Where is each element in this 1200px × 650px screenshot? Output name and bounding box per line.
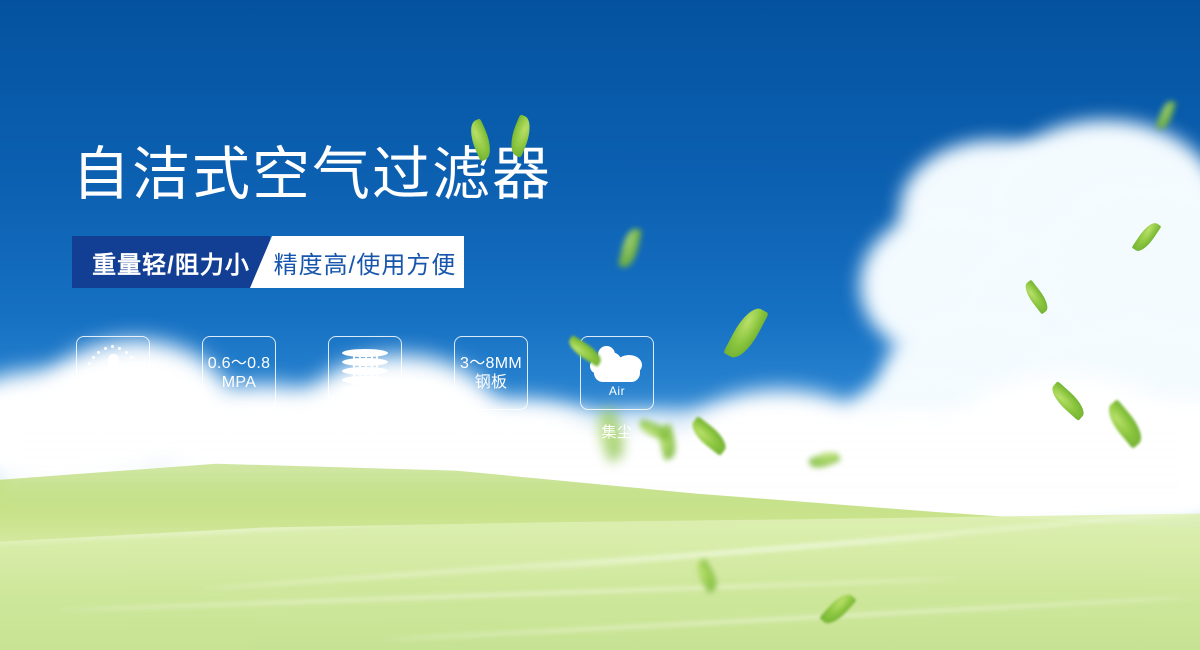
steel-thickness-text: 3～8MM bbox=[460, 354, 522, 373]
control-dial-icon: NO OFF bbox=[83, 345, 143, 401]
subtitle-right-text: 精度高/使用方便 bbox=[274, 245, 457, 280]
pressure-unit-text: MPA bbox=[222, 373, 256, 392]
feature-icon-box: NO OFF bbox=[76, 336, 150, 410]
feature-list: NO OFF bbox=[76, 336, 654, 442]
dial-off-label: OFF bbox=[130, 387, 143, 393]
pressure-value-text: 0.6～0.8 bbox=[208, 354, 271, 373]
feature-label: 钢结构强度 bbox=[452, 421, 530, 442]
steel-material-text: 钢板 bbox=[475, 373, 508, 392]
air-label: Air bbox=[609, 384, 625, 398]
leaf-sprout-icon bbox=[470, 112, 540, 166]
feature-label: 集尘 bbox=[601, 421, 632, 442]
feature-item-blowback[interactable]: 强力反吹 bbox=[328, 336, 402, 442]
feature-icon-box: 3～8MM 钢板 bbox=[454, 336, 528, 410]
subtitle-left-text: 重量轻/阻力小 bbox=[92, 245, 250, 280]
feature-item-pressure[interactable]: 0.6～0.8 MPA 二级过滤 bbox=[202, 336, 276, 442]
feature-label: 强力反吹 bbox=[334, 421, 396, 442]
feature-icon-box: 0.6～0.8 MPA bbox=[202, 336, 276, 410]
product-banner: 自洁式空气过滤器 重量轻/阻力小 精度高/使用方便 NO OFF bbox=[0, 0, 1200, 650]
subtitle-right-panel: 精度高/使用方便 bbox=[250, 236, 464, 288]
feature-item-control[interactable]: NO OFF bbox=[76, 336, 150, 442]
feature-item-steel[interactable]: 3～8MM 钢板 钢结构强度 bbox=[454, 336, 528, 442]
subtitle-left-panel: 重量轻/阻力小 bbox=[72, 236, 270, 288]
feature-label: 控制仪 bbox=[90, 421, 137, 442]
feature-icon-box bbox=[328, 336, 402, 410]
feature-label: 二级过滤 bbox=[208, 421, 270, 442]
subtitle-bar: 重量轻/阻力小 精度高/使用方便 bbox=[72, 236, 464, 288]
filter-stack-icon bbox=[342, 348, 388, 398]
